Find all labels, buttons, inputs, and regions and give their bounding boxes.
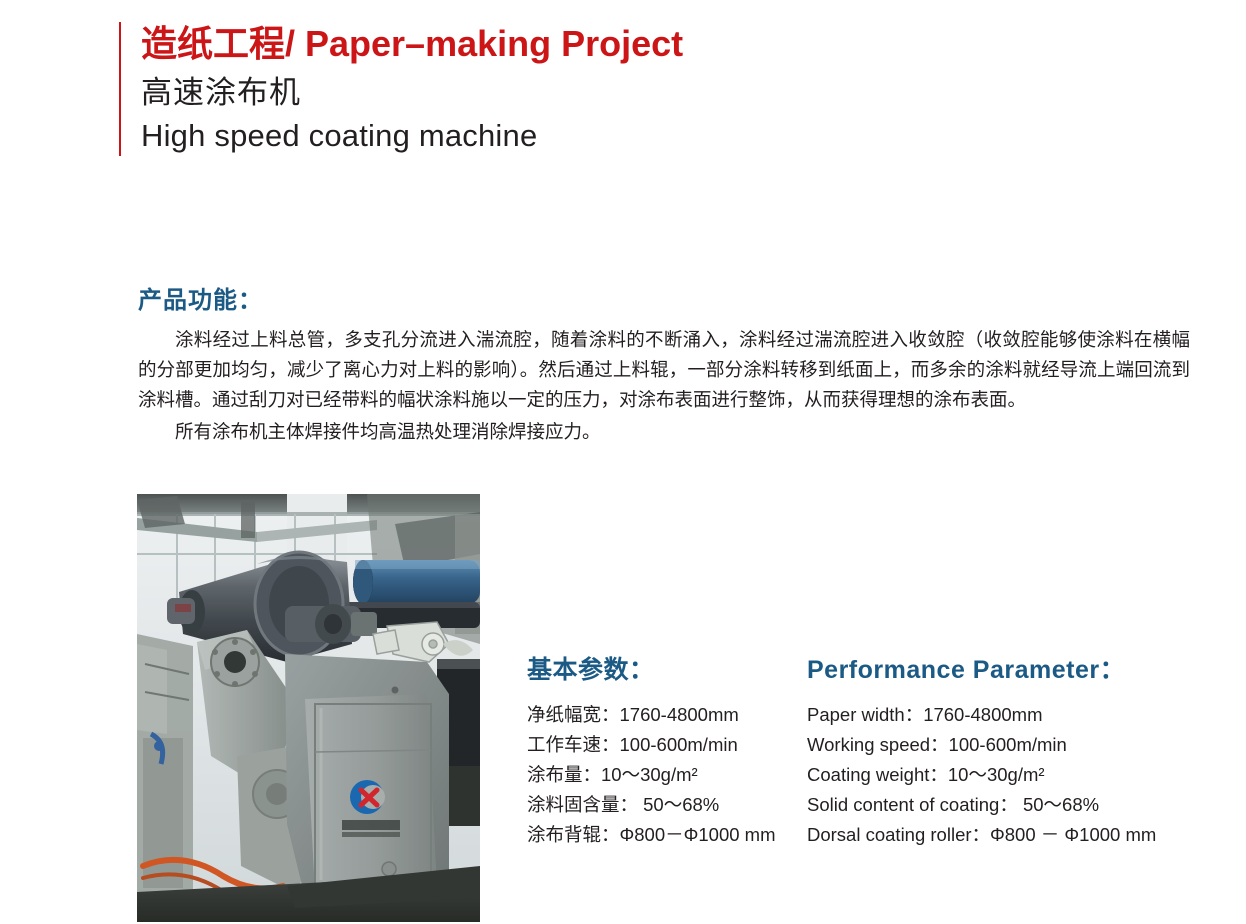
parameters-heading-en: Performance Parameter：	[807, 650, 1207, 686]
parameter-line: Coating weight：10～30g/m²	[807, 760, 1207, 790]
product-function-body: 涂料经过上料总管，多支孔分流进入湍流腔，随着涂料的不断涌入，涂料经过湍流腔进入收…	[138, 325, 1190, 447]
parameter-line: 涂布量：10～30g/m²	[527, 760, 807, 790]
product-function-paragraph: 涂料经过上料总管，多支孔分流进入湍流腔，随着涂料的不断涌入，涂料经过湍流腔进入收…	[138, 325, 1190, 415]
page-title: 造纸工程/ Paper–making Project	[141, 22, 1019, 66]
machine-photo-canvas	[137, 494, 480, 922]
parameter-line: 工作车速：100-600m/min	[527, 730, 807, 760]
parameter-line: Paper width：1760-4800mm	[807, 700, 1207, 730]
product-function-heading: 产品功能：	[138, 280, 263, 315]
product-function-paragraph: 所有涂布机主体焊接件均高温热处理消除焊接应力。	[138, 417, 1190, 447]
parameter-line: 涂料固含量： 50～68%	[527, 790, 807, 820]
page-header: 造纸工程/ Paper–making Project 高速涂布机 High sp…	[119, 22, 1019, 156]
parameters-section: 基本参数： 净纸幅宽：1760-4800mm 工作车速：100-600m/min…	[527, 650, 1207, 850]
parameter-line: 涂布背辊：Φ800－Φ1000 mm	[527, 820, 807, 850]
page-subtitle-cn: 高速涂布机	[141, 72, 1019, 114]
parameter-line: Dorsal coating roller：Φ800 － Φ1000 mm	[807, 820, 1207, 850]
parameter-line: Solid content of coating： 50～68%	[807, 790, 1207, 820]
parameters-heading-cn: 基本参数：	[527, 650, 807, 686]
machine-photo	[137, 494, 480, 922]
page-subtitle-en: High speed coating machine	[141, 116, 1019, 156]
parameter-line: 净纸幅宽：1760-4800mm	[527, 700, 807, 730]
parameters-column-en: Performance Parameter： Paper width：1760-…	[807, 650, 1207, 850]
parameters-column-cn: 基本参数： 净纸幅宽：1760-4800mm 工作车速：100-600m/min…	[527, 650, 807, 850]
parameter-line: Working speed：100-600m/min	[807, 730, 1207, 760]
